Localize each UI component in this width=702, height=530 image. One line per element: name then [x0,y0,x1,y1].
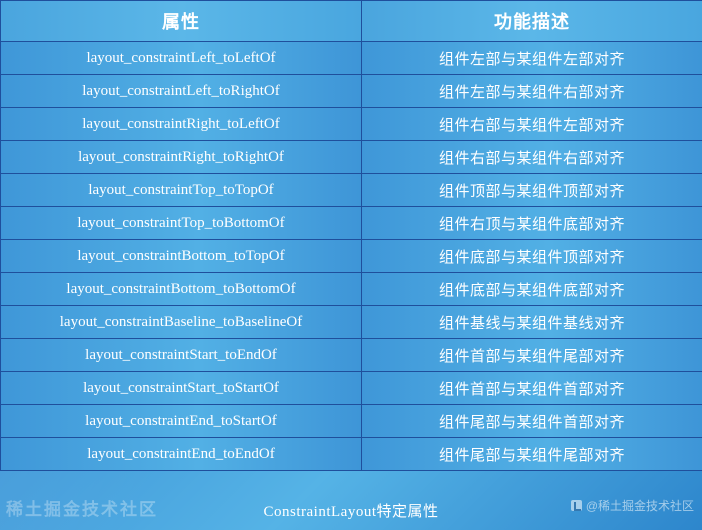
cell-attribute: layout_constraintEnd_toEndOf [1,438,362,471]
table-row: layout_constraintLeft_toLeftOf 组件左部与某组件左… [1,42,702,75]
column-header-attribute: 属性 [1,1,362,42]
table-row: layout_constraintStart_toEndOf 组件首部与某组件尾… [1,339,702,372]
juejin-logo-icon [571,500,582,511]
cell-description: 组件右部与某组件左部对齐 [362,108,702,141]
cell-attribute: layout_constraintTop_toBottomOf [1,207,362,240]
table-row: layout_constraintTop_toTopOf 组件顶部与某组件顶部对… [1,174,702,207]
cell-attribute: layout_constraintEnd_toStartOf [1,405,362,438]
attributes-table-container: 属性 功能描述 layout_constraintLeft_toLeftOf 组… [0,0,702,471]
watermark-right-label: @稀土掘金技术社区 [586,497,694,514]
table-row: layout_constraintTop_toBottomOf 组件右顶与某组件… [1,207,702,240]
cell-attribute: layout_constraintBottom_toTopOf [1,240,362,273]
cell-attribute: layout_constraintBottom_toBottomOf [1,273,362,306]
table-header-row: 属性 功能描述 [1,1,702,42]
watermark-right: @稀土掘金技术社区 [571,497,694,514]
table-row: layout_constraintLeft_toRightOf 组件左部与某组件… [1,75,702,108]
cell-description: 组件底部与某组件底部对齐 [362,273,702,306]
table-row: layout_constraintEnd_toEndOf 组件尾部与某组件尾部对… [1,438,702,471]
cell-attribute: layout_constraintStart_toEndOf [1,339,362,372]
table-row: layout_constraintBottom_toTopOf 组件底部与某组件… [1,240,702,273]
cell-description: 组件左部与某组件右部对齐 [362,75,702,108]
column-header-description: 功能描述 [362,1,702,42]
cell-attribute: layout_constraintLeft_toRightOf [1,75,362,108]
cell-attribute: layout_constraintTop_toTopOf [1,174,362,207]
cell-description: 组件尾部与某组件首部对齐 [362,405,702,438]
cell-attribute: layout_constraintBaseline_toBaselineOf [1,306,362,339]
cell-description: 组件底部与某组件顶部对齐 [362,240,702,273]
table-row: layout_constraintStart_toStartOf 组件首部与某组… [1,372,702,405]
table-row: layout_constraintRight_toLeftOf 组件右部与某组件… [1,108,702,141]
cell-attribute: layout_constraintStart_toStartOf [1,372,362,405]
table-row: layout_constraintBaseline_toBaselineOf 组… [1,306,702,339]
cell-attribute: layout_constraintRight_toRightOf [1,141,362,174]
table-row: layout_constraintEnd_toStartOf 组件尾部与某组件首… [1,405,702,438]
cell-description: 组件基线与某组件基线对齐 [362,306,702,339]
table-body: layout_constraintLeft_toLeftOf 组件左部与某组件左… [1,42,702,471]
cell-description: 组件右部与某组件右部对齐 [362,141,702,174]
cell-description: 组件首部与某组件尾部对齐 [362,339,702,372]
cell-description: 组件首部与某组件首部对齐 [362,372,702,405]
attributes-table: 属性 功能描述 layout_constraintLeft_toLeftOf 组… [0,0,702,471]
cell-attribute: layout_constraintLeft_toLeftOf [1,42,362,75]
cell-description: 组件右顶与某组件底部对齐 [362,207,702,240]
cell-attribute: layout_constraintRight_toLeftOf [1,108,362,141]
table-row: layout_constraintBottom_toBottomOf 组件底部与… [1,273,702,306]
cell-description: 组件左部与某组件左部对齐 [362,42,702,75]
table-row: layout_constraintRight_toRightOf 组件右部与某组… [1,141,702,174]
cell-description: 组件尾部与某组件尾部对齐 [362,438,702,471]
cell-description: 组件顶部与某组件顶部对齐 [362,174,702,207]
